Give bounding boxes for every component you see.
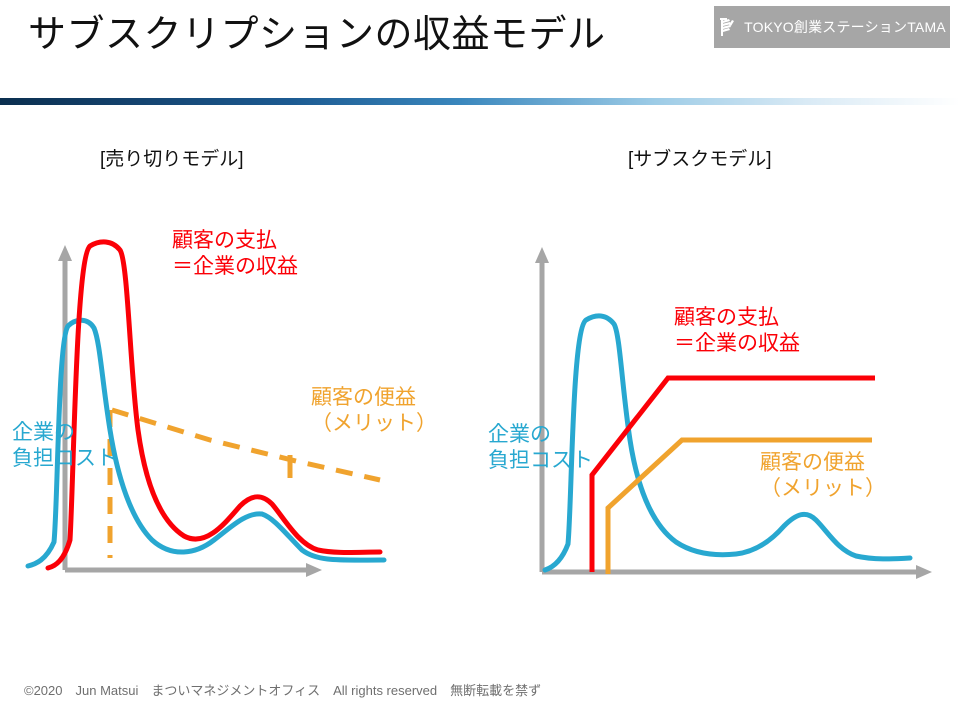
chart-sale-model	[0, 130, 470, 600]
annotation-revenue-line2: ＝企業の収益	[674, 331, 800, 357]
brand-logo: TOKYO創業ステーションTAMA	[714, 6, 950, 48]
copyright-footer: ©2020 Jun Matsui まついマネジメントオフィス All right…	[24, 680, 541, 699]
brand-logo-text: TOKYO創業ステーションTAMA	[744, 17, 946, 37]
annotation-cost-line2: 負担コスト	[12, 446, 117, 472]
chart-axes	[535, 247, 932, 579]
annotation-benefit-line2: （メリット）	[760, 476, 886, 502]
annotation-cost-line2: 負担コスト	[488, 448, 593, 474]
annotation-cost-line1: 企業の	[12, 420, 117, 446]
annotation-revenue-line2: ＝企業の収益	[172, 254, 298, 280]
chart-panel-subscription-model: [サブスクモデル] 顧客の支払 ＝企業の収益 顧客の便益 （メリット） 企業の …	[478, 130, 948, 600]
chart-subscription-model	[478, 130, 948, 600]
tokyo-sousou-mark-icon	[718, 16, 738, 38]
chart-panel-sale-model: [売り切りモデル] 顧客の支払 ＝企業の収益 顧客の便益 （メリット） 企業の …	[0, 130, 470, 600]
annotation-benefit-line1: 顧客の便益	[760, 450, 886, 476]
annotation-cost-subscription-model: 企業の 負担コスト	[488, 422, 593, 473]
annotation-cost-sale-model: 企業の 負担コスト	[12, 420, 117, 471]
annotation-benefit-line1: 顧客の便益	[311, 385, 437, 411]
page-title: サブスクリプションの収益モデル	[28, 14, 606, 58]
annotation-benefit-sale-model: 顧客の便益 （メリット）	[311, 385, 437, 436]
title-divider-rule	[0, 98, 960, 105]
annotation-revenue-sale-model: 顧客の支払 ＝企業の収益	[172, 228, 298, 279]
annotation-benefit-line2: （メリット）	[311, 411, 437, 437]
annotation-revenue-line1: 顧客の支払	[674, 305, 800, 331]
annotation-benefit-subscription-model: 顧客の便益 （メリット）	[760, 450, 886, 501]
annotation-revenue-subscription-model: 顧客の支払 ＝企業の収益	[674, 305, 800, 356]
annotation-cost-line1: 企業の	[488, 422, 593, 448]
annotation-revenue-line1: 顧客の支払	[172, 228, 298, 254]
